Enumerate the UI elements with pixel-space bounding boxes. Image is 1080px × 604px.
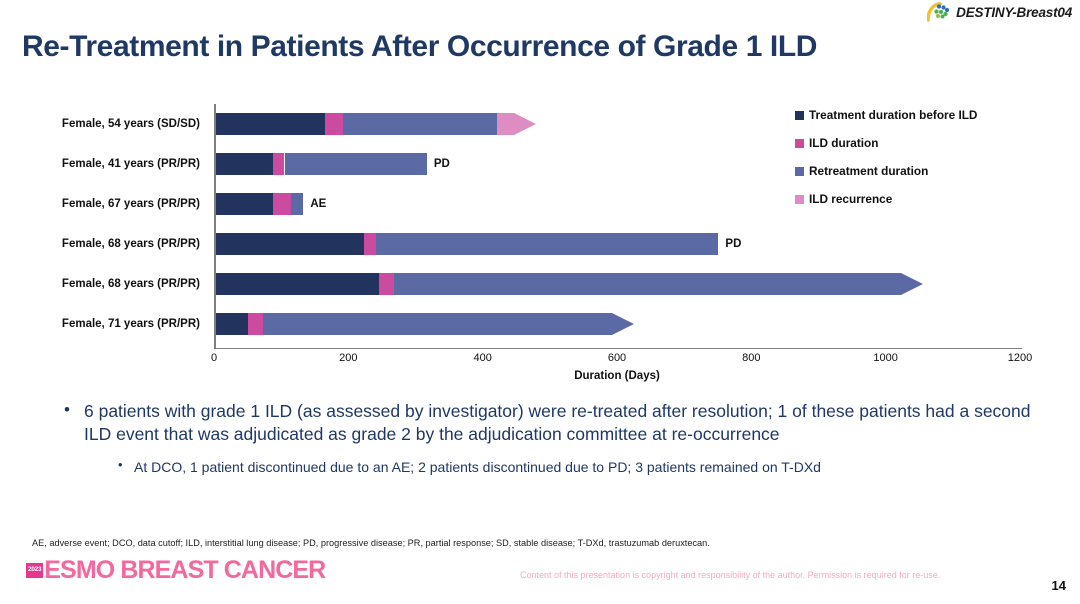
legend-swatch-icon — [795, 195, 804, 204]
bar-segment — [325, 113, 343, 135]
category-label: Female, 68 years (PR/PR) — [62, 238, 200, 250]
bar-segment — [285, 153, 427, 175]
legend-item: Treatment duration before ILD — [795, 108, 977, 122]
bullet-primary: 6 patients with grade 1 ILD (as assessed… — [60, 400, 1060, 446]
legend-label: ILD duration — [809, 136, 878, 150]
esmo-year-badge: 2023 — [26, 563, 43, 578]
category-label: Female, 67 years (PR/PR) — [62, 198, 200, 210]
bar-segment — [248, 313, 263, 335]
category-label: Female, 71 years (PR/PR) — [62, 318, 200, 330]
legend-swatch-icon — [795, 111, 804, 120]
bar-segment — [216, 313, 248, 335]
bar-segment — [497, 113, 513, 135]
bar-segment — [216, 153, 273, 175]
category-label: Female, 41 years (PR/PR) — [62, 158, 200, 170]
continuation-arrow — [901, 268, 923, 300]
x-axis-title: Duration (Days) — [214, 370, 1020, 382]
chart-legend: Treatment duration before ILDILD duratio… — [795, 108, 977, 220]
x-tick-label: 1200 — [1008, 352, 1032, 364]
bar-segment — [216, 193, 273, 215]
bar-segment — [379, 273, 394, 295]
bar-segment — [273, 153, 284, 175]
x-axis-ticks: 020040060080010001200 — [214, 352, 1020, 370]
bar-segment — [273, 193, 291, 215]
copyright-notice: Content of this presentation is copyrigh… — [520, 570, 940, 580]
bar-segment — [263, 313, 612, 335]
esmo-title-label: ESMO BREAST CANCER — [44, 558, 325, 583]
bar-row: PD — [216, 233, 1022, 255]
x-tick-label: 800 — [742, 352, 760, 364]
bar-end-label: PD — [434, 158, 450, 170]
x-tick-label: 200 — [339, 352, 357, 364]
legend-item: Retreatment duration — [795, 164, 977, 178]
page-number: 14 — [1052, 578, 1066, 593]
abbreviations-footnote: AE, adverse event; DCO, data cutoff; ILD… — [32, 538, 710, 548]
bar-segment — [291, 193, 303, 215]
category-axis-labels: Female, 54 years (SD/SD)Female, 41 years… — [0, 100, 208, 350]
x-tick-label: 400 — [473, 352, 491, 364]
destiny-starburst-icon — [927, 2, 951, 22]
legend-swatch-icon — [795, 167, 804, 176]
legend-item: ILD duration — [795, 136, 977, 150]
bar-segment — [216, 273, 379, 295]
study-name-label: DESTINY-Breast04 — [956, 5, 1072, 20]
study-badge: DESTINY-Breast04 — [927, 2, 1072, 22]
bar-row — [216, 313, 1022, 335]
continuation-arrow — [612, 308, 634, 340]
legend-item: ILD recurrence — [795, 192, 977, 206]
bullet-list: 6 patients with grade 1 ILD (as assessed… — [60, 400, 1060, 476]
legend-label: Retreatment duration — [809, 164, 928, 178]
x-tick-label: 1000 — [873, 352, 897, 364]
x-tick-label: 600 — [608, 352, 626, 364]
bar-segment — [394, 273, 901, 295]
bar-segment — [216, 113, 325, 135]
category-label: Female, 54 years (SD/SD) — [62, 118, 200, 130]
bar-segment — [376, 233, 719, 255]
legend-swatch-icon — [795, 139, 804, 148]
page-title: Re-Treatment in Patients After Occurrenc… — [22, 30, 1062, 63]
continuation-arrow — [514, 108, 536, 140]
bar-row — [216, 273, 1022, 295]
bullet-secondary: At DCO, 1 patient discontinued due to an… — [116, 458, 1060, 476]
legend-label: Treatment duration before ILD — [809, 108, 977, 122]
bar-segment — [216, 233, 364, 255]
legend-label: ILD recurrence — [809, 192, 892, 206]
x-tick-label: 0 — [211, 352, 217, 364]
esmo-logo: 2023 ESMO BREAST CANCER — [26, 558, 325, 583]
category-label: Female, 68 years (PR/PR) — [62, 278, 200, 290]
bar-end-label: PD — [725, 238, 741, 250]
bar-end-label: AE — [310, 198, 326, 210]
bar-segment — [343, 113, 497, 135]
bar-segment — [364, 233, 376, 255]
